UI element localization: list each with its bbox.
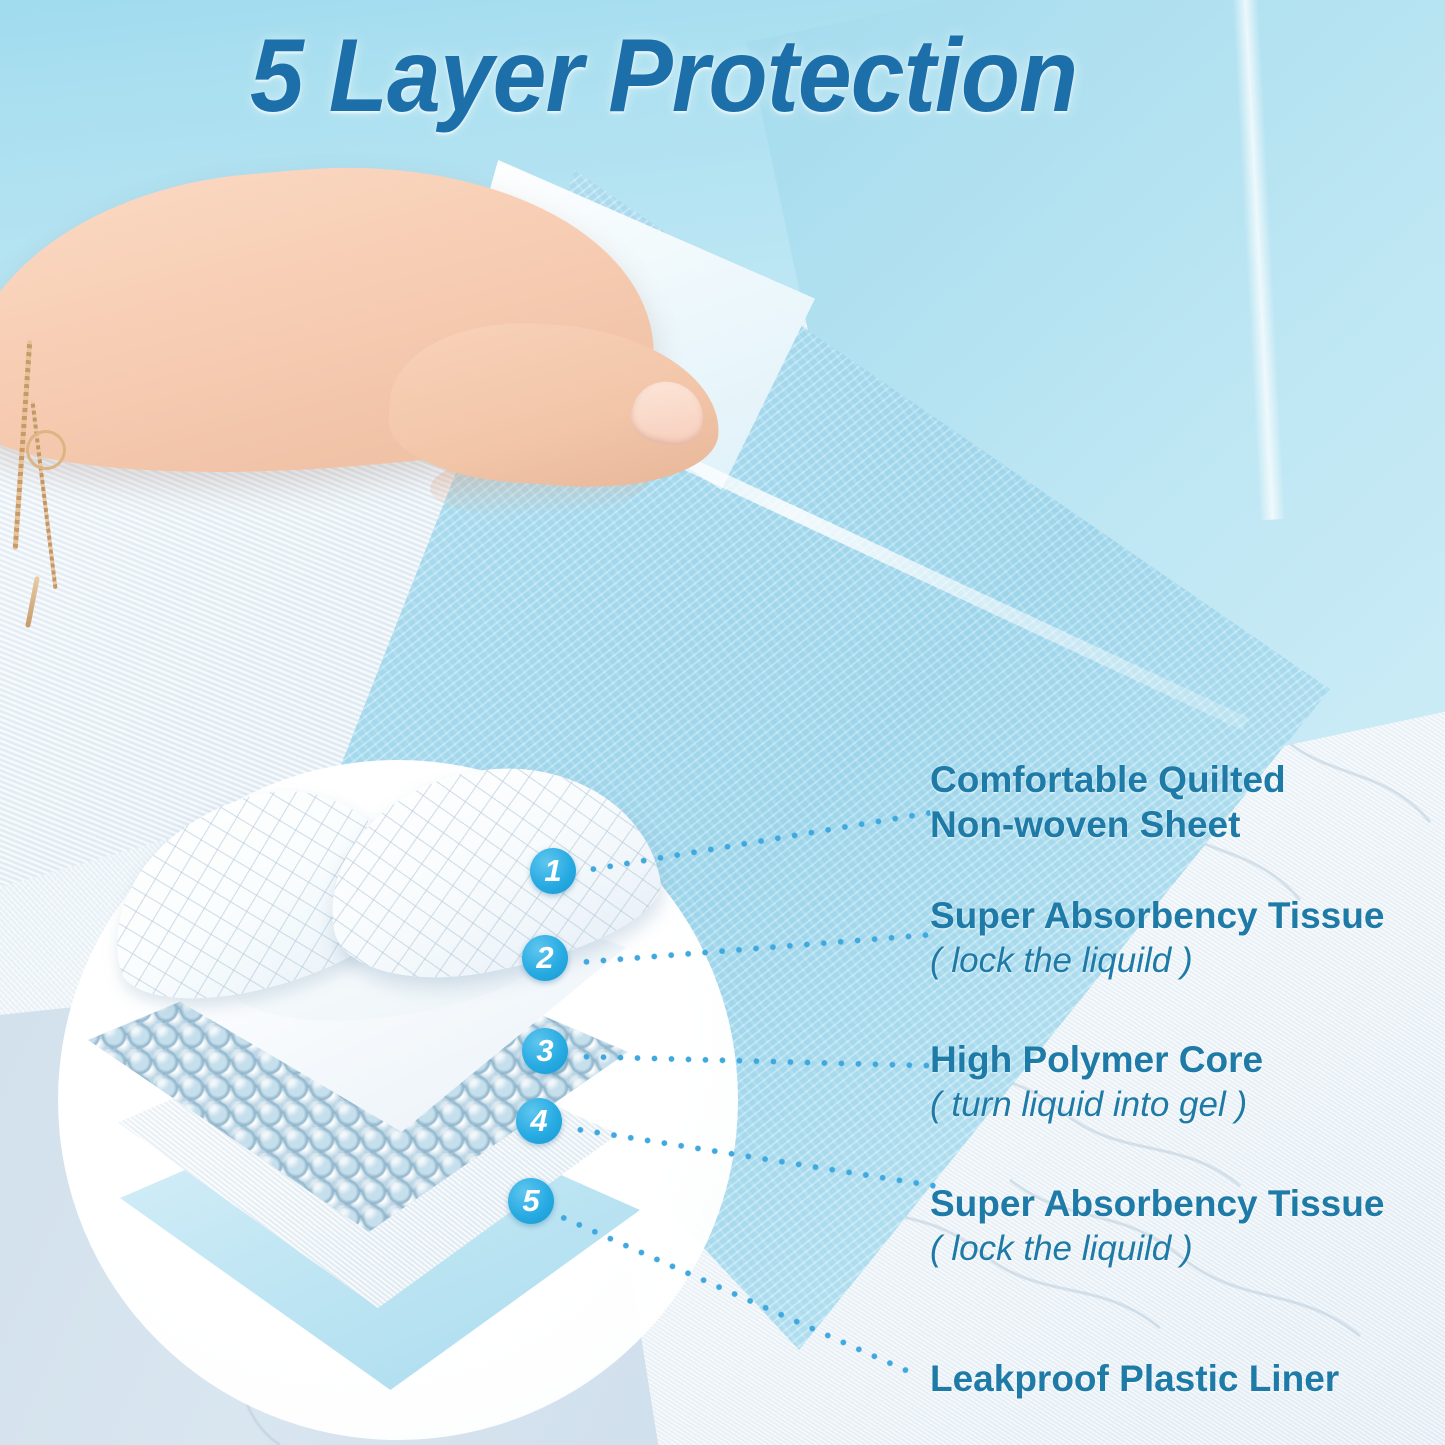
layer-badge-3[interactable]: 3: [522, 1028, 568, 1074]
layer-label-4-line1: Super Absorbency Tissue: [930, 1181, 1384, 1226]
layer-label-1-line2: Non-woven Sheet: [930, 802, 1286, 847]
layer-1-quilted-sheet: [106, 770, 646, 1020]
layer-label-2: Super Absorbency Tissue ( lock the liqui…: [930, 893, 1384, 983]
layer-badge-1[interactable]: 1: [530, 848, 576, 894]
layer-label-4: Super Absorbency Tissue ( lock the liqui…: [930, 1181, 1384, 1271]
layer-label-5: Leakproof Plastic Liner: [930, 1356, 1339, 1401]
hand-holding-pad: [0, 150, 720, 570]
layer-label-3: High Polymer Core ( turn liquid into gel…: [930, 1037, 1263, 1127]
layer-badge-2[interactable]: 2: [522, 935, 568, 981]
layer-labels: Comfortable Quilted Non-woven Sheet Supe…: [930, 0, 1445, 1445]
layer-label-3-line1: High Polymer Core: [930, 1037, 1263, 1082]
layer-label-1: Comfortable Quilted Non-woven Sheet: [930, 757, 1286, 847]
layer-label-1-line1: Comfortable Quilted: [930, 757, 1286, 802]
product-infographic: 1 2 3 4 5 5 Layer Protection Comfortable…: [0, 0, 1445, 1445]
layer-label-5-line1: Leakproof Plastic Liner: [930, 1356, 1339, 1401]
layer-label-2-line1: Super Absorbency Tissue: [930, 893, 1384, 938]
layer-label-3-note: ( turn liquid into gel ): [930, 1082, 1263, 1127]
layer-badge-4[interactable]: 4: [516, 1098, 562, 1144]
layer-label-4-note: ( lock the liquild ): [930, 1226, 1384, 1271]
bracelet: [20, 340, 28, 590]
layer-badge-5[interactable]: 5: [508, 1178, 554, 1224]
layer-label-2-note: ( lock the liquild ): [930, 938, 1384, 983]
